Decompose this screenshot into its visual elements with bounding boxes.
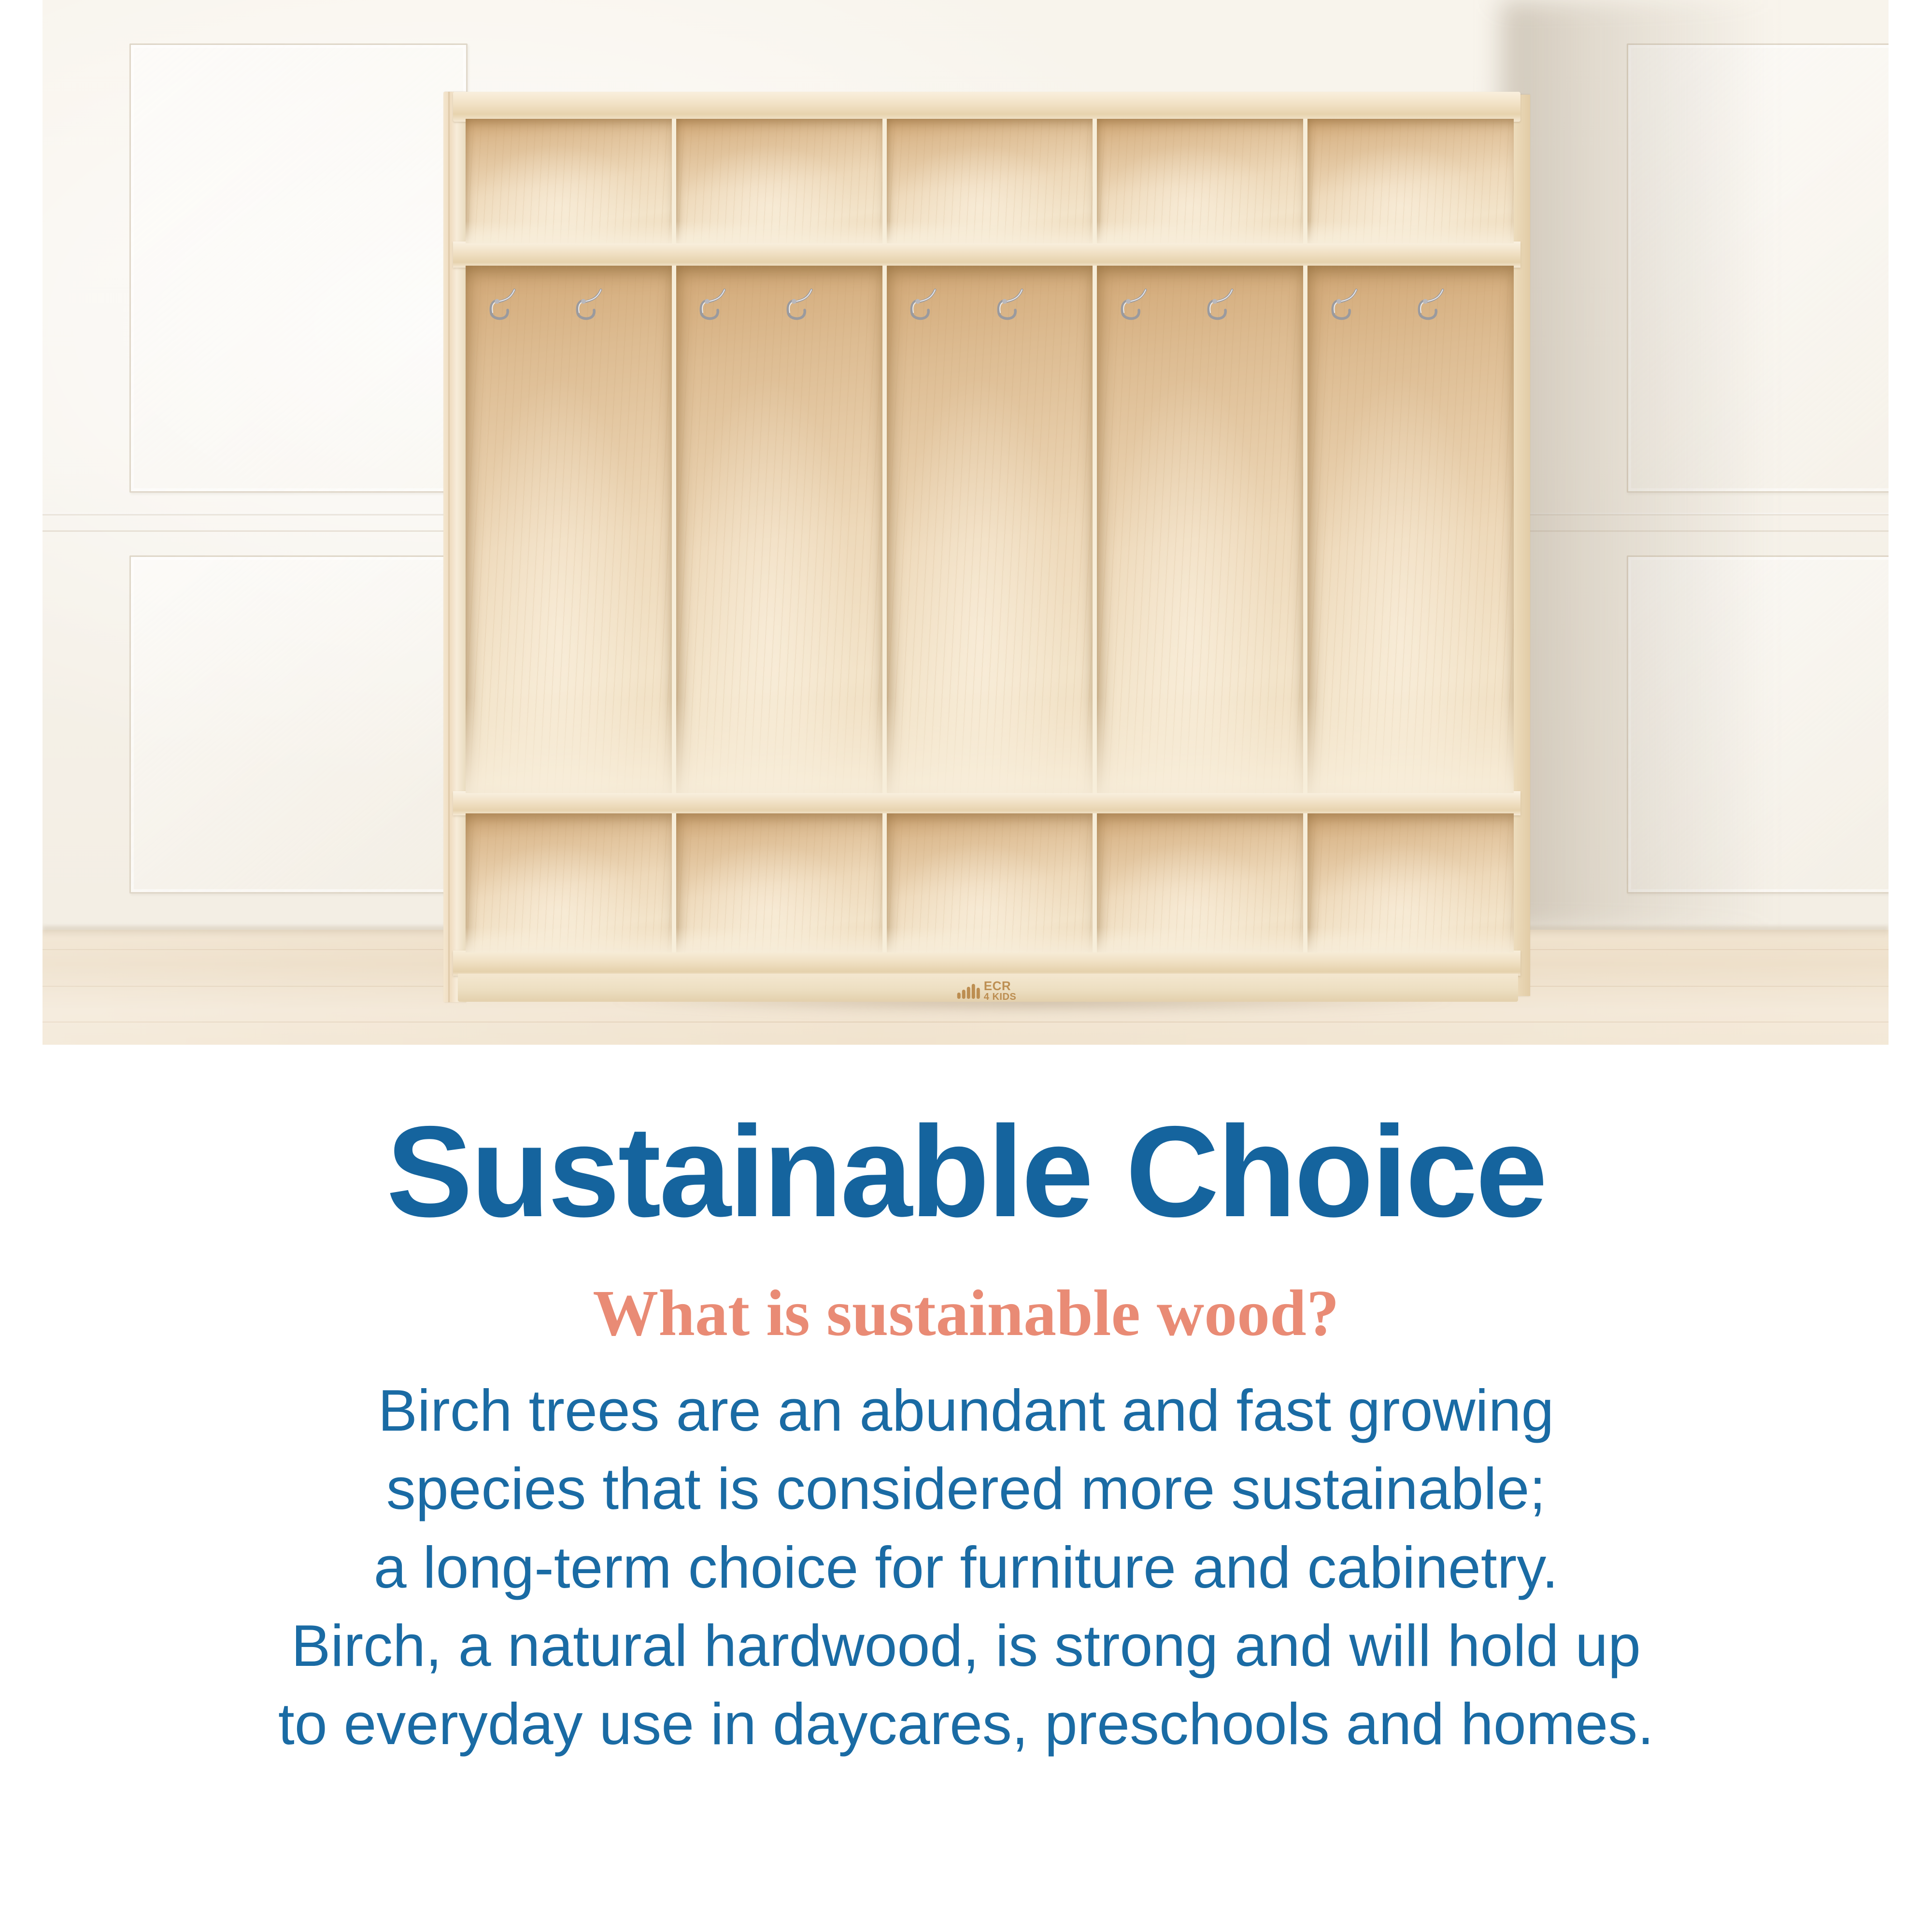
people-icon <box>957 982 980 999</box>
locker-right-side-panel <box>1514 95 1530 996</box>
bottom-cubby-cell <box>676 813 887 952</box>
top-cubby-cell <box>676 119 887 243</box>
top-cubby-cell <box>1307 119 1514 243</box>
bottom-cubby-cell <box>1097 813 1307 952</box>
product-photo: ECR 4 KIDS <box>43 0 1889 1045</box>
locker-top-rail <box>453 92 1520 122</box>
coat-hook-icon <box>1415 286 1452 327</box>
coat-hook-icon <box>1328 286 1366 327</box>
text-section: Sustainable Choice What is sustainable w… <box>0 1045 1932 1932</box>
top-cubby-cell <box>887 119 1097 243</box>
top-cubby-row <box>466 119 1514 243</box>
brand-name: ECR <box>984 980 1016 992</box>
coat-hook-icon <box>696 286 734 327</box>
cast-shadow <box>1501 0 1772 930</box>
body-line: a long-term choice for furniture and cab… <box>0 1528 1932 1606</box>
coat-section-cell <box>1307 266 1514 793</box>
coat-section-cell <box>466 266 676 793</box>
locker-bottom-rail <box>453 951 1520 976</box>
coat-hook-icon <box>1118 286 1155 327</box>
coat-hook-icon <box>1204 286 1242 327</box>
section-subheading: What is sustainable wood? <box>0 1280 1932 1346</box>
coat-hook-icon <box>573 286 611 327</box>
top-cubby-cell <box>1097 119 1307 243</box>
coat-locker-unit: ECR 4 KIDS <box>443 92 1530 1002</box>
coat-section-cell <box>676 266 887 793</box>
body-line: species that is considered more sustaina… <box>0 1449 1932 1528</box>
wall-panel-upper-left <box>129 43 468 493</box>
page-title: Sustainable Choice <box>0 1107 1932 1236</box>
body-line: Birch, a natural hardwood, is strong and… <box>0 1606 1932 1685</box>
coat-section-cell <box>1097 266 1307 793</box>
body-copy: Birch trees are an abundant and fast gro… <box>0 1371 1932 1763</box>
coat-hook-icon <box>907 286 945 327</box>
bottom-cubby-cell <box>466 813 676 952</box>
brand-tagline: 4 KIDS <box>984 992 1016 1002</box>
bottom-cubby-cell <box>1307 813 1514 952</box>
ecr4kids-logo: ECR 4 KIDS <box>957 980 1016 1002</box>
coat-hook-icon <box>783 286 821 327</box>
coat-hanging-row <box>466 266 1514 793</box>
locker-lower-shelf-rail <box>453 791 1520 815</box>
body-line: to everyday use in daycares, preschools … <box>0 1685 1932 1763</box>
marketing-card: ECR 4 KIDS Sustainable Choice What is su… <box>0 0 1932 1932</box>
locker-upper-shelf-rail <box>453 241 1520 268</box>
coat-hook-icon <box>994 286 1032 327</box>
bottom-cubby-cell <box>887 813 1097 952</box>
bottom-cubby-row <box>466 813 1514 952</box>
top-cubby-cell <box>466 119 676 243</box>
locker-left-side-panel <box>443 92 466 1002</box>
coat-hook-icon <box>486 286 524 327</box>
body-line: Birch trees are an abundant and fast gro… <box>0 1371 1932 1449</box>
coat-section-cell <box>887 266 1097 793</box>
wall-panel-lower-left <box>129 555 468 894</box>
